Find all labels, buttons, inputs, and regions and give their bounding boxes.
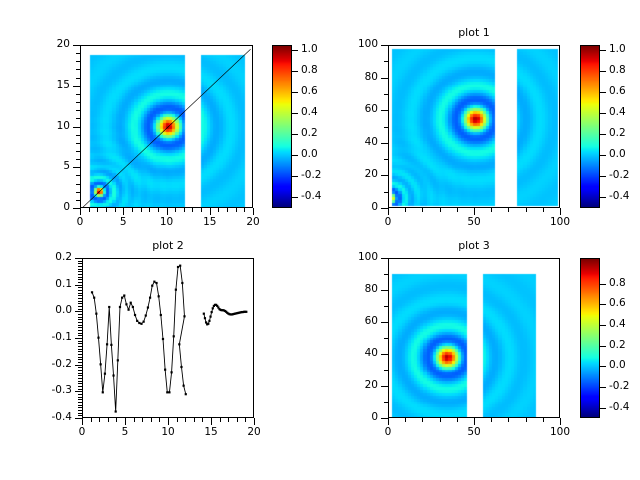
x-tick [474, 418, 475, 425]
y-tick [384, 402, 388, 403]
y-tick-label: 40 [332, 348, 378, 359]
x-tick [422, 418, 423, 422]
x-tick [388, 418, 389, 425]
y-tick [381, 322, 388, 323]
colorbar-tick [600, 346, 606, 347]
colorbar-tick [600, 325, 606, 326]
colorbar-gradient [581, 259, 599, 417]
plot-panel-plot-3: plot 30501000204060801000.80.60.40.20.0-… [0, 0, 640, 480]
colorbar-tick [600, 366, 606, 367]
colorbar-tick-label: 0.6 [609, 298, 626, 309]
y-tick [381, 354, 388, 355]
x-tick-label: 100 [538, 427, 582, 438]
x-tick [457, 418, 458, 422]
x-tick [526, 418, 527, 422]
colorbar-tick-label: 0.2 [609, 340, 626, 351]
heatmap-image [389, 259, 560, 418]
y-tick [381, 290, 388, 291]
x-tick [560, 418, 561, 425]
axes-frame [388, 258, 560, 418]
colorbar-tick [600, 408, 606, 409]
y-tick [381, 418, 388, 419]
y-tick [381, 258, 388, 259]
y-tick [384, 306, 388, 307]
y-tick-label: 80 [332, 284, 378, 295]
colorbar-tick-label: -0.4 [609, 402, 630, 413]
x-tick [543, 418, 544, 422]
y-tick-label: 60 [332, 316, 378, 327]
y-tick [381, 386, 388, 387]
x-tick-label: 50 [452, 427, 496, 438]
colorbar-tick-label: -0.2 [609, 381, 630, 392]
figure-canvas: 05101520051015201.00.80.60.40.20.0-0.2-0… [0, 0, 640, 480]
y-tick [384, 338, 388, 339]
colorbar-tick [600, 304, 606, 305]
x-tick [491, 418, 492, 422]
colorbar-tick-label: 0.8 [609, 278, 626, 289]
colorbar-tick [600, 284, 606, 285]
x-tick [440, 418, 441, 422]
colorbar [580, 258, 600, 418]
y-tick [384, 370, 388, 371]
colorbar-tick-label: 0.0 [609, 360, 626, 371]
colorbar-tick [600, 387, 606, 388]
x-tick-label: 0 [366, 427, 410, 438]
y-tick-label: 100 [332, 252, 378, 263]
x-tick [405, 418, 406, 422]
plot-title: plot 3 [388, 239, 560, 252]
x-tick [508, 418, 509, 422]
y-tick-label: 20 [332, 380, 378, 391]
y-tick-label: 0 [332, 412, 378, 423]
y-tick [384, 274, 388, 275]
colorbar-tick-label: 0.4 [609, 319, 626, 330]
